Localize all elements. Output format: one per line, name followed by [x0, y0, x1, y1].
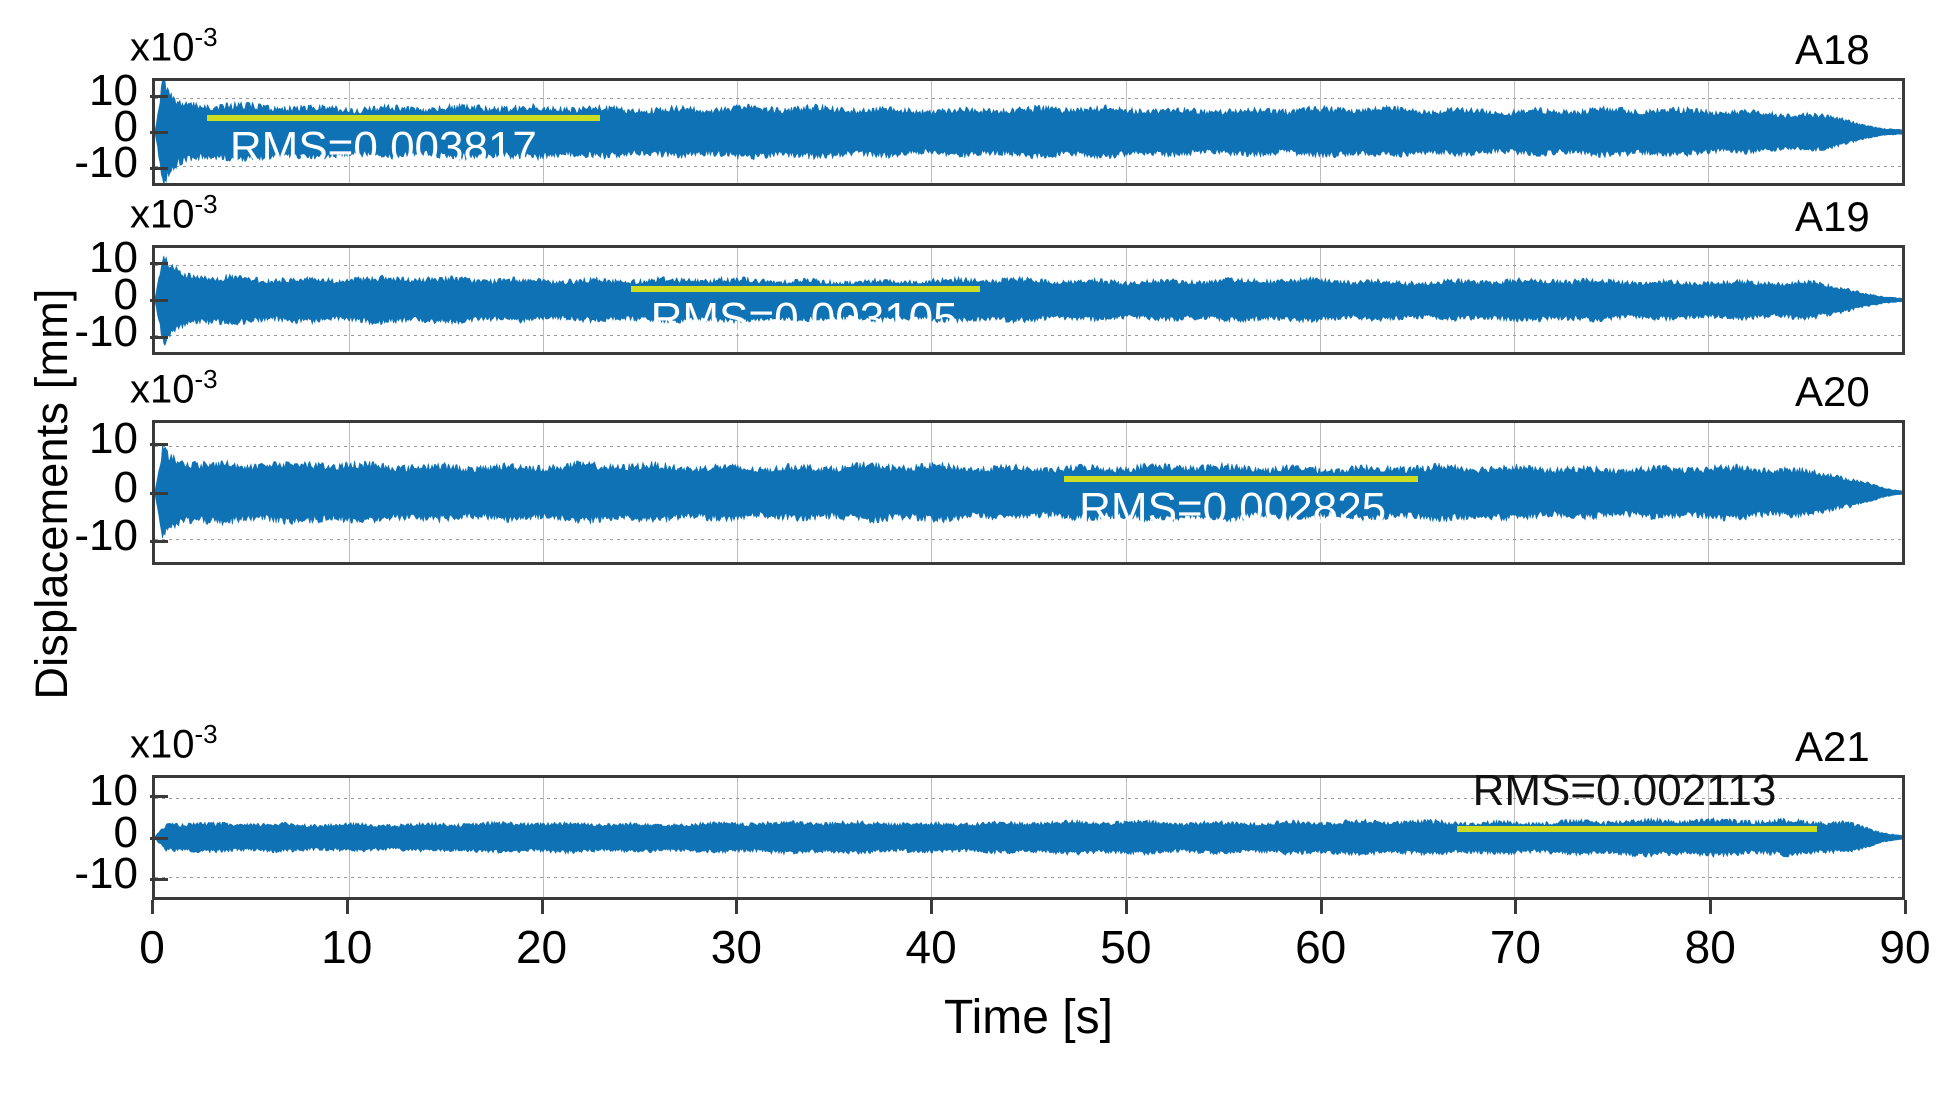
- y-tick-mark: [150, 167, 168, 170]
- x-tick-mark: [541, 900, 544, 914]
- x-tick-label: 50: [1066, 920, 1186, 974]
- x-tick-label: 70: [1455, 920, 1575, 974]
- exponent-base: x10: [130, 722, 195, 766]
- exponent-power: -3: [195, 22, 218, 52]
- signal-trace: [155, 248, 1902, 352]
- exponent-base: x10: [130, 192, 195, 236]
- y-tick-mark: [150, 795, 168, 798]
- y-tick-mark: [150, 443, 168, 446]
- rms-label-a21: RMS=0.002113: [1473, 769, 1777, 813]
- y-axis-exponent-a19: x10-3: [130, 189, 218, 237]
- figure-root: Displacements [mm] 0102030405060708090Ti…: [0, 0, 1948, 1095]
- y-tick-mark: [150, 837, 168, 840]
- x-axis-title: Time [s]: [152, 990, 1905, 1045]
- panel-a19: [152, 245, 1905, 355]
- panel-label-a21: A21: [1795, 723, 1870, 771]
- rms-line-a21: [1457, 826, 1817, 832]
- x-tick-label: 10: [287, 920, 407, 974]
- x-tick-mark: [346, 900, 349, 914]
- axes-box: [152, 420, 1905, 565]
- rms-label-a19: RMS=0.003105: [651, 297, 958, 341]
- x-tick-mark: [735, 900, 738, 914]
- y-tick-mark: [150, 492, 168, 495]
- x-tick-label: 20: [482, 920, 602, 974]
- y-tick-label: -10: [0, 307, 138, 357]
- y-tick-label: -10: [0, 511, 138, 561]
- y-tick-mark: [150, 540, 168, 543]
- exponent-power: -3: [195, 719, 218, 749]
- y-tick-label: -10: [0, 138, 138, 188]
- x-tick-mark: [151, 900, 154, 914]
- x-tick-label: 80: [1650, 920, 1770, 974]
- y-tick-mark: [150, 299, 168, 302]
- signal-trace: [155, 423, 1902, 562]
- y-tick-mark: [150, 131, 168, 134]
- x-tick-mark: [1709, 900, 1712, 914]
- y-tick-label: 0: [0, 463, 138, 513]
- x-tick-label: 30: [676, 920, 796, 974]
- x-tick-mark: [1904, 900, 1907, 914]
- axes-box: [152, 245, 1905, 355]
- exponent-base: x10: [130, 367, 195, 411]
- y-tick-mark: [150, 95, 168, 98]
- rms-label-a20: RMS=0.002825: [1079, 487, 1386, 531]
- y-axis-exponent-a21: x10-3: [130, 719, 218, 767]
- x-tick-mark: [930, 900, 933, 914]
- x-tick-mark: [1514, 900, 1517, 914]
- rms-label-a18: RMS=0.003817: [230, 126, 537, 170]
- y-axis-exponent-a20: x10-3: [130, 364, 218, 412]
- x-tick-label: 90: [1845, 920, 1948, 974]
- rms-line-a18: [207, 115, 600, 121]
- x-tick-label: 40: [871, 920, 991, 974]
- x-tick-mark: [1320, 900, 1323, 914]
- y-tick-mark: [150, 878, 168, 881]
- y-tick-label: -10: [0, 849, 138, 899]
- panel-label-a20: A20: [1795, 368, 1870, 416]
- x-tick-label: 60: [1261, 920, 1381, 974]
- rms-line-a20: [1064, 476, 1418, 482]
- rms-line-a19: [631, 286, 980, 292]
- y-tick-mark: [150, 336, 168, 339]
- x-tick-mark: [1125, 900, 1128, 914]
- panel-label-a18: A18: [1795, 26, 1870, 74]
- panel-label-a19: A19: [1795, 193, 1870, 241]
- exponent-power: -3: [195, 364, 218, 394]
- y-axis-exponent-a18: x10-3: [130, 22, 218, 70]
- panel-a20: [152, 420, 1905, 565]
- y-tick-label: 10: [0, 414, 138, 464]
- y-tick-mark: [150, 262, 168, 265]
- x-tick-label: 0: [92, 920, 212, 974]
- exponent-power: -3: [195, 189, 218, 219]
- exponent-base: x10: [130, 25, 195, 69]
